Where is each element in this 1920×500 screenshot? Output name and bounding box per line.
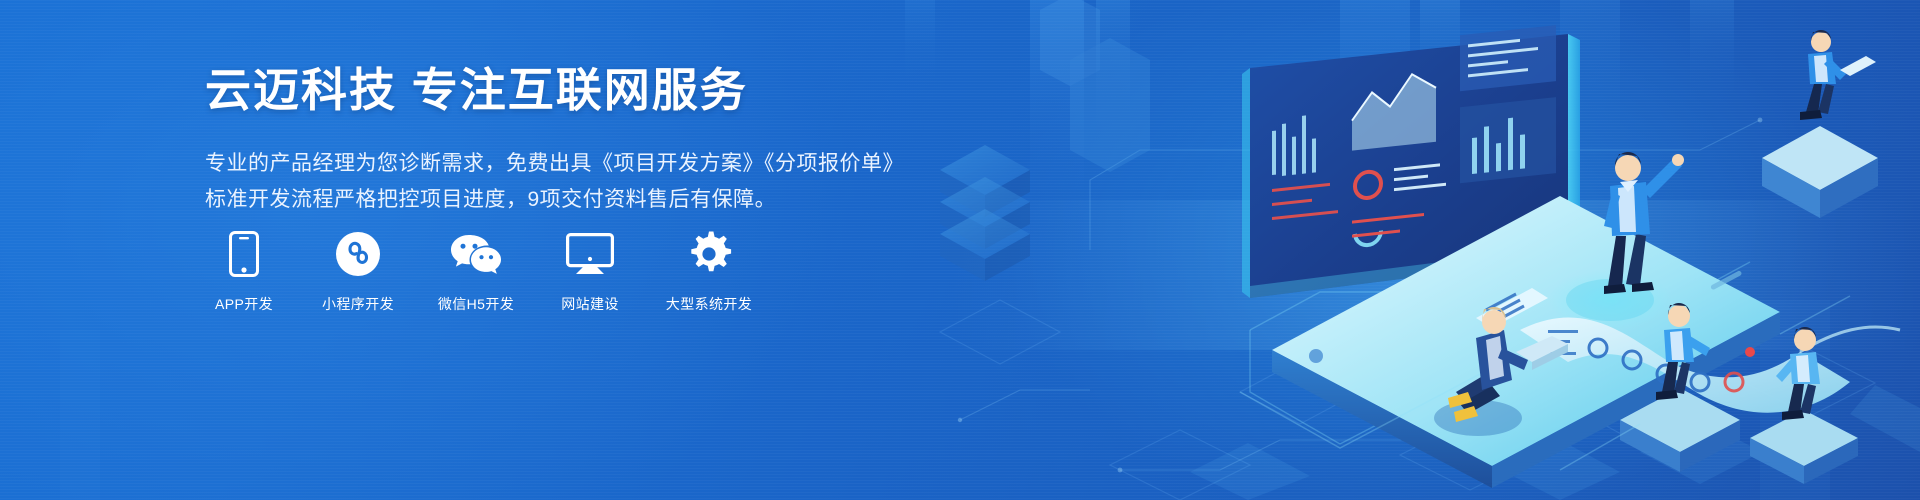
service-item-wechat-h5[interactable]: 微信H5开发	[433, 228, 519, 314]
service-label: 大型系统开发	[666, 294, 752, 314]
cube-stand-right	[1762, 30, 1878, 218]
service-label: 小程序开发	[322, 294, 394, 314]
service-item-website[interactable]: 网站建设	[551, 228, 629, 314]
service-item-large-system[interactable]: 大型系统开发	[661, 228, 757, 314]
wechat-icon	[450, 228, 502, 280]
isometric-tech-illustration	[920, 0, 1920, 500]
hero-subtitle: 专业的产品经理为您诊断需求，免费出具《项目开发方案》《分项报价单》 标准开发流程…	[205, 146, 905, 218]
monitor-icon	[566, 228, 614, 280]
mini-program-icon	[335, 228, 381, 280]
gear-icon	[686, 228, 732, 280]
service-item-app[interactable]: APP开发	[205, 228, 283, 314]
service-item-mini-program[interactable]: 小程序开发	[315, 228, 401, 314]
service-label: 微信H5开发	[438, 294, 514, 314]
page-title: 云迈科技 专注互联网服务	[205, 62, 905, 120]
server-stack-illustration	[940, 0, 1150, 281]
service-label: APP开发	[215, 294, 273, 314]
hero-banner: 云迈科技 专注互联网服务 专业的产品经理为您诊断需求，免费出具《项目开发方案》《…	[0, 0, 1920, 500]
mobile-phone-icon	[229, 228, 259, 280]
hero-content: 云迈科技 专注互联网服务 专业的产品经理为您诊断需求，免费出具《项目开发方案》《…	[205, 62, 905, 218]
subtitle-line-2: 标准开发流程严格把控项目进度，9项交付资料售后有保障。	[205, 182, 905, 218]
subtitle-line-1: 专业的产品经理为您诊断需求，免费出具《项目开发方案》《分项报价单》	[205, 146, 905, 182]
service-label: 网站建设	[561, 294, 619, 314]
service-list: APP开发 小程序开发	[205, 228, 757, 314]
